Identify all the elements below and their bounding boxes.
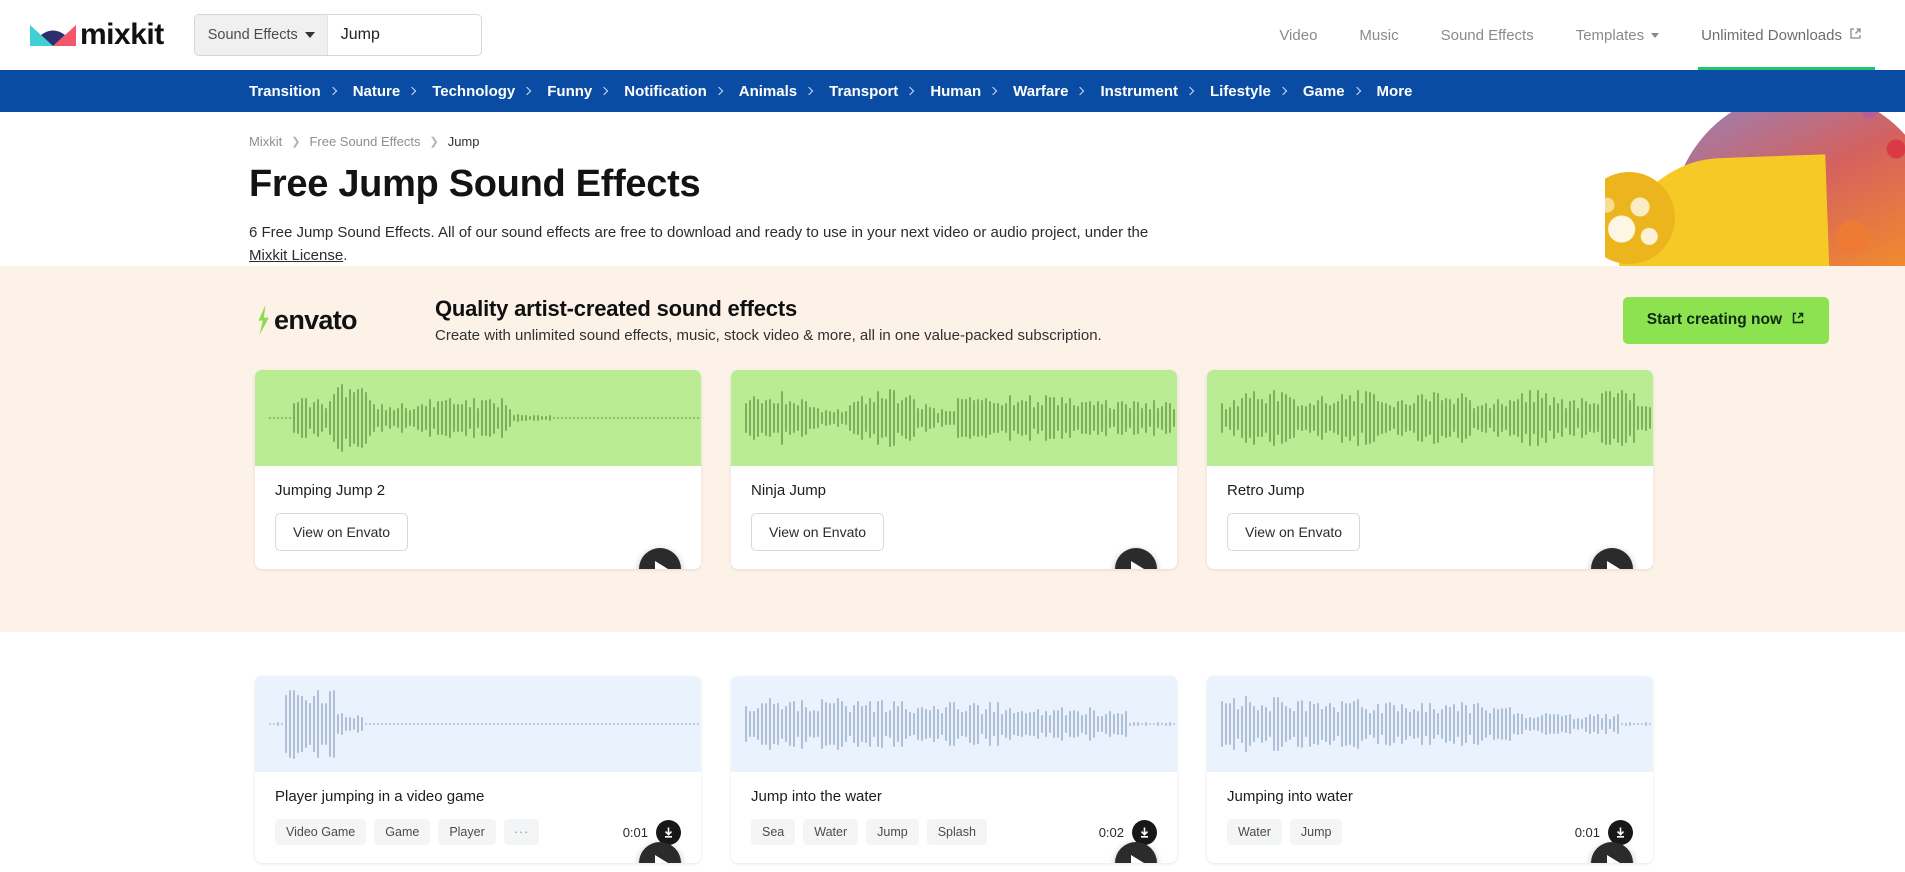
category-label: Instrument bbox=[1100, 83, 1178, 100]
waveform[interactable] bbox=[1207, 370, 1653, 466]
waveform-bar bbox=[881, 700, 883, 748]
waveform-bar bbox=[1573, 719, 1575, 729]
category-lifestyle[interactable]: Lifestyle bbox=[1210, 83, 1303, 100]
waveform-bar bbox=[345, 717, 347, 731]
waveform-bar bbox=[449, 723, 451, 725]
waveform-bar bbox=[389, 407, 391, 429]
waveform-bar bbox=[1333, 707, 1335, 740]
chevron-right-icon bbox=[328, 87, 336, 95]
waveform-bar bbox=[1041, 715, 1043, 733]
search-input[interactable] bbox=[328, 15, 482, 55]
waveform-bar bbox=[1333, 403, 1335, 433]
waveform-bar bbox=[1089, 707, 1091, 740]
waveform-bar bbox=[549, 723, 551, 725]
waveform-bar bbox=[745, 403, 747, 434]
start-creating-now-button[interactable]: Start creating now bbox=[1623, 297, 1829, 344]
waveform-bar bbox=[413, 409, 415, 426]
download-button[interactable] bbox=[1608, 820, 1633, 845]
waveform-bar bbox=[1469, 400, 1471, 436]
waveform-bar bbox=[1381, 713, 1383, 735]
waveform-bar bbox=[273, 417, 275, 419]
waveform-bar bbox=[553, 417, 555, 419]
sound-title: Jumping into water bbox=[1227, 788, 1633, 805]
nav-video[interactable]: Video bbox=[1258, 0, 1338, 70]
waveform-bar bbox=[1049, 715, 1051, 733]
waveform-bar bbox=[397, 723, 399, 725]
waveform-bar bbox=[1469, 713, 1471, 736]
waveform-bar bbox=[813, 710, 815, 739]
waveform-bar bbox=[929, 710, 931, 738]
breadcrumb-free-sound-effects[interactable]: Free Sound Effects bbox=[309, 134, 420, 149]
nav-music-label: Music bbox=[1359, 27, 1398, 44]
waveform-bar bbox=[365, 392, 367, 444]
waveform-bar bbox=[965, 711, 967, 738]
waveform-bar bbox=[897, 403, 899, 433]
waveform-bar bbox=[1621, 723, 1623, 726]
waveform-bar bbox=[525, 415, 527, 421]
waveform-bar bbox=[1265, 403, 1267, 433]
waveform[interactable] bbox=[1207, 676, 1653, 772]
waveform-bar bbox=[857, 401, 859, 435]
waveform-bar bbox=[1429, 703, 1431, 746]
waveform-bar bbox=[1645, 722, 1647, 725]
waveform-bar bbox=[1301, 405, 1303, 431]
nav-music[interactable]: Music bbox=[1338, 0, 1419, 70]
waveform-bar bbox=[441, 723, 443, 725]
waveform-bar bbox=[409, 723, 411, 725]
play-icon bbox=[655, 561, 668, 569]
waveform-bar bbox=[609, 417, 611, 419]
waveform-bar bbox=[1581, 719, 1583, 730]
waveform-bar bbox=[1417, 395, 1419, 442]
waveform-bar bbox=[1277, 401, 1279, 435]
waveform-bar bbox=[625, 417, 627, 419]
waveform-bar bbox=[501, 398, 503, 438]
waveform-bar bbox=[1373, 394, 1375, 442]
waveform-bar bbox=[909, 395, 911, 441]
waveform-bar bbox=[945, 411, 947, 425]
waveform-bar bbox=[597, 723, 599, 725]
play-icon bbox=[1131, 855, 1144, 863]
category-label: Transition bbox=[249, 83, 321, 100]
waveform-bar bbox=[417, 723, 419, 725]
mixkit-logo[interactable]: mixkit bbox=[28, 20, 164, 50]
waveform-bar bbox=[1405, 708, 1407, 739]
waveform-bar bbox=[1137, 402, 1139, 433]
category-funny[interactable]: Funny bbox=[547, 83, 624, 100]
breadcrumb-jump: Jump bbox=[448, 134, 480, 149]
waveform-bar bbox=[281, 723, 283, 726]
waveform-bar bbox=[1509, 707, 1511, 740]
waveform-bar bbox=[557, 723, 559, 725]
waveform-bar bbox=[309, 703, 311, 745]
waveform-bar bbox=[1061, 397, 1063, 439]
waveform-bar bbox=[1329, 703, 1331, 745]
waveform-bar bbox=[833, 412, 835, 424]
category-transition[interactable]: Transition bbox=[249, 83, 353, 100]
category-nature[interactable]: Nature bbox=[353, 83, 433, 100]
waveform-bar bbox=[749, 400, 751, 437]
waveform-bar bbox=[1297, 406, 1299, 430]
waveform-bar bbox=[1433, 392, 1435, 444]
waveform-bar bbox=[897, 706, 899, 742]
nav-templates[interactable]: Templates bbox=[1555, 0, 1680, 70]
waveform-bar bbox=[1173, 409, 1175, 426]
waveform-bar bbox=[1637, 723, 1639, 725]
waveform-bar bbox=[1473, 408, 1475, 428]
page-description-suffix: . bbox=[343, 247, 347, 264]
waveform-bar bbox=[1017, 712, 1019, 736]
search-category-label: Sound Effects bbox=[208, 27, 298, 43]
waveform-bar bbox=[497, 407, 499, 430]
waveform-bar bbox=[305, 398, 307, 438]
waveform-bar bbox=[781, 391, 783, 444]
category-label: Notification bbox=[624, 83, 707, 100]
waveform-bar bbox=[637, 723, 639, 725]
waveform-bar bbox=[601, 417, 603, 419]
waveform-bar bbox=[1273, 390, 1275, 446]
waveform-bar bbox=[681, 417, 683, 419]
waveform-bar bbox=[549, 415, 551, 420]
view-on-envato-button[interactable]: View on Envato bbox=[751, 513, 884, 551]
nav-sound-effects-label: Sound Effects bbox=[1441, 27, 1534, 44]
waveform-bar bbox=[573, 723, 575, 725]
waveform-bar bbox=[533, 723, 535, 725]
waveform-bar bbox=[617, 417, 619, 419]
waveform-bar bbox=[1465, 705, 1467, 743]
waveform-bar bbox=[1593, 716, 1595, 731]
waveform-bar bbox=[917, 708, 919, 739]
promo-header: envato Quality artist-created sound effe… bbox=[0, 296, 1905, 344]
waveform-bar bbox=[545, 416, 547, 420]
waveform-bar bbox=[1041, 405, 1043, 430]
waveform-bar bbox=[937, 709, 939, 739]
tag[interactable]: Player bbox=[438, 819, 495, 845]
waveform-bar bbox=[989, 702, 991, 745]
waveform-bar bbox=[633, 723, 635, 725]
waveform-bar bbox=[1093, 710, 1095, 738]
chevron-right-icon bbox=[408, 87, 416, 95]
waveform-bar bbox=[997, 403, 999, 433]
waveform-bar bbox=[313, 696, 315, 753]
waveform-bar bbox=[1361, 403, 1363, 433]
waveform-bar bbox=[809, 407, 811, 429]
waveform-bar bbox=[1329, 405, 1331, 431]
waveform-bar bbox=[1473, 704, 1475, 744]
waveform-bar bbox=[1593, 403, 1595, 433]
waveform-bar bbox=[269, 417, 271, 419]
waveform-bar bbox=[921, 409, 923, 428]
category-human[interactable]: Human bbox=[930, 83, 1013, 100]
waveform-bar bbox=[1009, 708, 1011, 740]
waveform-bar bbox=[517, 723, 519, 725]
card-meta: Sea Water Jump Splash 0:02 bbox=[751, 819, 1157, 845]
waveform-bar bbox=[889, 389, 891, 448]
sound-card: Player jumping in a video game Video Gam… bbox=[255, 676, 701, 863]
category-animals[interactable]: Animals bbox=[739, 83, 829, 100]
chevron-right-icon bbox=[1352, 87, 1360, 95]
waveform-bar bbox=[669, 723, 671, 725]
waveform-bar bbox=[617, 723, 619, 725]
view-on-envato-button[interactable]: View on Envato bbox=[1227, 513, 1360, 551]
waveform-bar bbox=[1149, 723, 1151, 726]
category-game[interactable]: Game bbox=[1303, 83, 1377, 100]
waveform-bar bbox=[513, 415, 515, 421]
waveform-bar bbox=[605, 723, 607, 725]
download-icon bbox=[1614, 826, 1627, 839]
waveform-bar bbox=[1101, 716, 1103, 731]
waveform-bar bbox=[1345, 399, 1347, 438]
waveform-bar bbox=[341, 713, 343, 734]
waveform-bar bbox=[1633, 393, 1635, 443]
waveform-bar bbox=[1629, 400, 1631, 437]
waveform-bar bbox=[437, 723, 439, 725]
waveform-bar bbox=[1105, 714, 1107, 735]
waveform-bar bbox=[981, 714, 983, 735]
waveform-bar bbox=[1389, 702, 1391, 746]
sound-title: Ninja Jump bbox=[751, 482, 1157, 499]
category-transport[interactable]: Transport bbox=[829, 83, 930, 100]
tag[interactable]: Game bbox=[374, 819, 430, 845]
waveform-bar bbox=[869, 701, 871, 747]
waveform-bar bbox=[325, 703, 327, 745]
mixkit-logo-text: mixkit bbox=[80, 20, 164, 50]
waveform-bar bbox=[1597, 714, 1599, 734]
waveform-bar bbox=[417, 406, 419, 429]
nav-sound-effects[interactable]: Sound Effects bbox=[1420, 0, 1555, 70]
nav-unlimited-downloads[interactable]: Unlimited Downloads bbox=[1680, 0, 1883, 70]
waveform-bar bbox=[1157, 722, 1159, 725]
waveform-bar bbox=[1269, 711, 1271, 737]
waveform-bar bbox=[1029, 712, 1031, 735]
waveform-bar bbox=[501, 723, 503, 725]
waveform[interactable] bbox=[731, 676, 1177, 772]
waveform-bar bbox=[997, 702, 999, 747]
waveform-bar bbox=[1341, 701, 1343, 748]
waveform-bar bbox=[1073, 405, 1075, 432]
waveform-bar bbox=[1529, 390, 1531, 446]
waveform-bar bbox=[1061, 707, 1063, 740]
mixkit-license-link[interactable]: Mixkit License bbox=[249, 247, 343, 264]
waveform-bar bbox=[961, 712, 963, 737]
waveform-bar bbox=[353, 718, 355, 730]
waveform-bar bbox=[1629, 722, 1631, 725]
waveform-bar bbox=[1261, 705, 1263, 744]
waveform-bar bbox=[1129, 723, 1131, 726]
tag[interactable]: Video Game bbox=[275, 819, 366, 845]
more-tags-button[interactable]: ··· bbox=[504, 819, 540, 845]
waveform-bar bbox=[685, 723, 687, 725]
category-technology[interactable]: Technology bbox=[432, 83, 547, 100]
waveform-bar bbox=[1001, 405, 1003, 431]
waveform-bar bbox=[521, 415, 523, 421]
waveform-bar bbox=[697, 723, 699, 725]
waveform-bar bbox=[665, 723, 667, 725]
duration-label: 0:01 bbox=[623, 825, 648, 840]
waveform-bar bbox=[1561, 399, 1563, 436]
waveform-bar bbox=[877, 701, 879, 747]
chevron-right-icon bbox=[1279, 87, 1287, 95]
waveform-bar bbox=[789, 702, 791, 745]
waveform-bar bbox=[581, 417, 583, 419]
waveform-bar bbox=[1497, 399, 1499, 436]
waveform-bar bbox=[513, 723, 515, 725]
waveform-bar bbox=[1121, 714, 1123, 735]
waveform-bar bbox=[1129, 408, 1131, 427]
waveform-bar bbox=[693, 723, 695, 725]
search-category-dropdown[interactable]: Sound Effects bbox=[195, 15, 328, 55]
waveform-bar bbox=[1377, 401, 1379, 436]
waveform-bar bbox=[837, 409, 839, 428]
waveform-bar bbox=[821, 412, 823, 424]
waveform-bar bbox=[1153, 723, 1155, 725]
waveform-bar bbox=[825, 702, 827, 746]
waveform-bar bbox=[769, 698, 771, 750]
waveform-bar bbox=[873, 712, 875, 737]
waveform-bar bbox=[1117, 402, 1119, 434]
waveform-bar bbox=[1641, 406, 1643, 430]
waveform-bar bbox=[833, 703, 835, 745]
waveform-bar bbox=[657, 723, 659, 725]
breadcrumb-separator-icon: ❯ bbox=[291, 135, 300, 148]
waveform-bar bbox=[1065, 403, 1067, 433]
tag[interactable]: Sea bbox=[751, 819, 795, 845]
nav-video-label: Video bbox=[1279, 27, 1317, 44]
waveform-bar bbox=[1625, 393, 1627, 443]
waveform-bar bbox=[293, 690, 295, 759]
waveform-bar bbox=[645, 417, 647, 419]
waveform-bar bbox=[1573, 400, 1575, 437]
waveform-bar bbox=[1617, 714, 1619, 734]
category-warfare[interactable]: Warfare bbox=[1013, 83, 1100, 100]
waveform-bar bbox=[621, 417, 623, 419]
waveform-bar bbox=[1505, 406, 1507, 431]
waveform-bar bbox=[333, 394, 335, 442]
waveform-bar bbox=[301, 696, 303, 753]
waveform-bar bbox=[1089, 401, 1091, 435]
waveform-bar bbox=[497, 723, 499, 725]
waveform-bar bbox=[621, 723, 623, 725]
waveform-bar bbox=[1293, 711, 1295, 737]
waveform-bar bbox=[1245, 696, 1247, 751]
waveform-bar bbox=[1485, 710, 1487, 737]
waveform-bar bbox=[653, 417, 655, 419]
waveform-bar bbox=[1525, 718, 1527, 730]
waveform-bar bbox=[493, 723, 495, 725]
waveform-bar bbox=[605, 417, 607, 419]
download-button[interactable] bbox=[656, 820, 681, 845]
view-on-envato-button[interactable]: View on Envato bbox=[275, 513, 408, 551]
waveform-bar bbox=[925, 709, 927, 738]
waveform-bar bbox=[889, 710, 891, 738]
waveform-bar bbox=[1297, 701, 1299, 748]
waveform-bar bbox=[1173, 723, 1175, 726]
waveform-bar bbox=[1449, 399, 1451, 437]
waveform-bar bbox=[1493, 708, 1495, 741]
waveform-bar bbox=[1241, 398, 1243, 438]
waveform-bar bbox=[841, 701, 843, 747]
tag[interactable]: Water bbox=[803, 819, 858, 845]
waveform-bar bbox=[1157, 408, 1159, 428]
tag[interactable]: Splash bbox=[927, 819, 987, 845]
waveform-bar bbox=[373, 723, 375, 725]
waveform-bar bbox=[905, 709, 907, 738]
waveform-bar bbox=[1345, 703, 1347, 746]
waveform-bar bbox=[1277, 697, 1279, 750]
waveform[interactable] bbox=[731, 370, 1177, 466]
waveform-bar bbox=[913, 713, 915, 736]
waveform-bar bbox=[989, 401, 991, 435]
waveform-bar bbox=[281, 417, 283, 419]
promo-title: Quality artist-created sound effects bbox=[435, 296, 1102, 322]
waveform-bar bbox=[689, 417, 691, 419]
waveform-bar bbox=[873, 402, 875, 435]
waveform-bar bbox=[1401, 704, 1403, 743]
tag[interactable]: Jump bbox=[1290, 819, 1343, 845]
waveform-bar bbox=[921, 707, 923, 741]
category-instrument[interactable]: Instrument bbox=[1100, 83, 1210, 100]
waveform-bar bbox=[565, 723, 567, 725]
waveform[interactable] bbox=[255, 370, 701, 466]
waveform-bar bbox=[1569, 714, 1571, 734]
waveform-bar bbox=[1325, 403, 1327, 433]
waveform-bar bbox=[433, 407, 435, 430]
waveform-bar bbox=[1229, 703, 1231, 746]
waveform-bar bbox=[405, 723, 407, 725]
waveform-bar bbox=[489, 399, 491, 437]
waveform-bar bbox=[1401, 400, 1403, 437]
category-notification[interactable]: Notification bbox=[624, 83, 739, 100]
play-icon bbox=[1607, 855, 1620, 863]
waveform-bar bbox=[1145, 722, 1147, 726]
waveform-bar bbox=[401, 403, 403, 434]
envato-logo-text: envato bbox=[274, 305, 357, 336]
waveform-bar bbox=[477, 723, 479, 725]
waveform-bar bbox=[809, 711, 811, 737]
waveform-bar bbox=[913, 399, 915, 437]
waveform-bar bbox=[969, 397, 971, 439]
waveform-bar bbox=[969, 705, 971, 743]
waveform-bar bbox=[1357, 699, 1359, 749]
waveform-bar bbox=[481, 400, 483, 436]
breadcrumb-mixkit[interactable]: Mixkit bbox=[249, 134, 282, 149]
waveform-bar bbox=[993, 403, 995, 433]
waveform-bar bbox=[1225, 409, 1227, 428]
waveform-bar bbox=[589, 417, 591, 419]
category-more[interactable]: More bbox=[1377, 83, 1430, 100]
download-button[interactable] bbox=[1132, 820, 1157, 845]
waveform-bar bbox=[1429, 401, 1431, 435]
waveform-bar bbox=[1589, 404, 1591, 433]
waveform-bar bbox=[1349, 703, 1351, 745]
tag[interactable]: Jump bbox=[866, 819, 919, 845]
waveform-bar bbox=[1317, 703, 1319, 744]
waveform-bar bbox=[1509, 400, 1511, 437]
waveform-bar bbox=[1425, 399, 1427, 437]
waveform-bar bbox=[293, 403, 295, 434]
waveform-bar bbox=[869, 398, 871, 438]
waveform-bar bbox=[517, 414, 519, 421]
waveform-bar bbox=[633, 417, 635, 419]
waveform-bar bbox=[797, 405, 799, 431]
waveform-bar bbox=[1581, 398, 1583, 437]
waveform-bar bbox=[397, 408, 399, 429]
tag[interactable]: Water bbox=[1227, 819, 1282, 845]
waveform-bar bbox=[1597, 404, 1599, 433]
waveform-bar bbox=[1517, 713, 1519, 735]
waveform[interactable] bbox=[255, 676, 701, 772]
category-label: Nature bbox=[353, 83, 401, 100]
